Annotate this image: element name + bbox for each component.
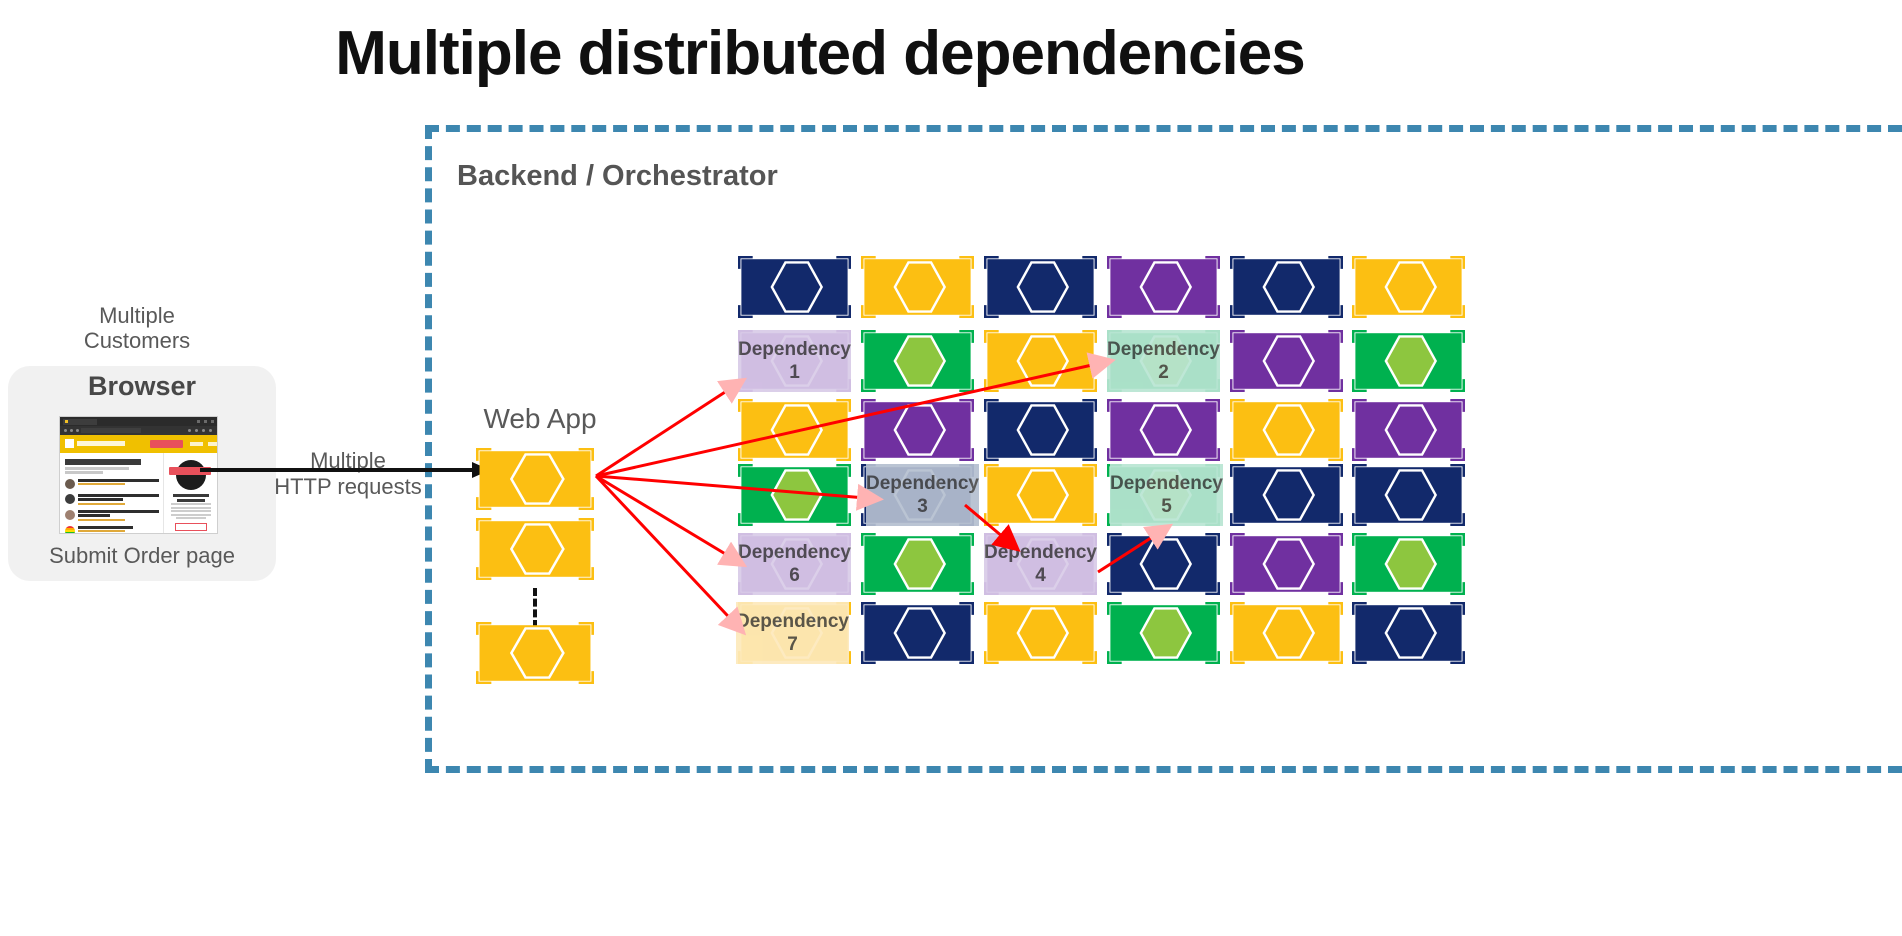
thumbnail-cta-button bbox=[150, 440, 183, 448]
container-icon bbox=[861, 533, 974, 595]
thumbnail-page-body bbox=[60, 453, 217, 534]
thumbnail-sidebar-text bbox=[171, 510, 211, 512]
browser-caption: Submit Order page bbox=[8, 543, 276, 569]
dependency-label-2: Dependency2 bbox=[1107, 330, 1220, 392]
thumbnail-favicon-icon bbox=[65, 420, 68, 423]
container-icon bbox=[984, 464, 1097, 526]
thumbnail-subtext bbox=[65, 471, 103, 474]
container-icon bbox=[1107, 399, 1220, 461]
thumbnail-sidebar-text bbox=[171, 507, 211, 509]
avatar bbox=[65, 494, 75, 504]
dependency-number: 1 bbox=[789, 361, 800, 384]
web-app-label: Web App bbox=[470, 403, 610, 435]
container-icon bbox=[984, 602, 1097, 664]
container-icon bbox=[984, 330, 1097, 392]
thumbnail-nav-item bbox=[190, 442, 203, 446]
dependency-number: 4 bbox=[1035, 564, 1046, 587]
avatar bbox=[65, 479, 75, 489]
container-icon bbox=[1230, 602, 1343, 664]
thumbnail-sidebar-heading bbox=[177, 499, 206, 502]
thumbnail-item-text bbox=[78, 510, 159, 521]
dependency-label-text: Dependency bbox=[738, 541, 851, 564]
thumbnail-item-meta bbox=[78, 519, 125, 521]
thumbnail-maximize-icon bbox=[204, 420, 207, 423]
customers-line-1: Multiple bbox=[99, 303, 175, 328]
dependency-label-text: Dependency bbox=[736, 610, 849, 633]
dependency-number: 3 bbox=[917, 495, 928, 518]
container-icon bbox=[1352, 330, 1465, 392]
thumbnail-item-meta bbox=[78, 530, 125, 532]
thumbnail-menu-icon bbox=[209, 429, 212, 432]
thumbnail-site-wordmark bbox=[77, 441, 125, 446]
thumbnail-list-item bbox=[65, 526, 159, 535]
thumbnail-item-text bbox=[78, 526, 159, 535]
web-app-instance bbox=[476, 448, 594, 510]
customers-line-2: Customers bbox=[84, 328, 190, 353]
thumbnail-address-field bbox=[81, 428, 141, 433]
thumbnail-reload-icon bbox=[76, 429, 79, 432]
dependency-label-text: Dependency bbox=[1107, 338, 1220, 361]
dependency-label-5: Dependency5 bbox=[1110, 464, 1223, 526]
container-icon bbox=[861, 602, 974, 664]
thumbnail-extensions-icon bbox=[195, 429, 198, 432]
thumbnail-sidebar-text bbox=[171, 514, 211, 516]
thumbnail-close-icon bbox=[211, 420, 214, 423]
page-title: Multiple distributed dependencies bbox=[0, 18, 1640, 89]
thumbnail-titlebar bbox=[60, 417, 217, 426]
web-app-instance bbox=[476, 622, 594, 684]
multiple-customers-label: Multiple Customers bbox=[38, 303, 236, 353]
thumbnail-site-header bbox=[60, 435, 217, 453]
dependency-label-text: Dependency bbox=[984, 541, 1097, 564]
thumbnail-profile-icon bbox=[202, 429, 205, 432]
container-icon bbox=[1107, 256, 1220, 318]
container-icon bbox=[984, 256, 1097, 318]
container-icon bbox=[1230, 464, 1343, 526]
dependency-number: 7 bbox=[787, 633, 798, 656]
thumbnail-item-title bbox=[78, 510, 159, 513]
thumbnail-back-icon bbox=[64, 429, 67, 432]
thumbnail-sidebar-button bbox=[175, 523, 207, 531]
container-icon bbox=[738, 399, 851, 461]
container-icon bbox=[1352, 602, 1465, 664]
container-icon bbox=[1230, 533, 1343, 595]
thumbnail-item-title bbox=[78, 526, 133, 529]
container-icon bbox=[738, 256, 851, 318]
dependency-number: 2 bbox=[1158, 361, 1169, 384]
container-icon bbox=[1352, 399, 1465, 461]
thumbnail-minimize-icon bbox=[197, 420, 200, 423]
thumbnail-list-item bbox=[65, 494, 159, 505]
container-icon bbox=[984, 399, 1097, 461]
container-icon bbox=[861, 330, 974, 392]
thumbnail-forward-icon bbox=[70, 429, 73, 432]
dependency-label-6: Dependency6 bbox=[738, 533, 851, 595]
container-icon bbox=[1230, 399, 1343, 461]
container-icon bbox=[1352, 464, 1465, 526]
container-icon bbox=[1107, 602, 1220, 664]
thumbnail-item-title bbox=[78, 494, 159, 497]
thumbnail-sidebar-text bbox=[176, 517, 207, 519]
container-icon bbox=[738, 464, 851, 526]
thumbnail-main-column bbox=[60, 453, 163, 534]
thumbnail-heading bbox=[65, 459, 141, 465]
thumbnail-item-meta bbox=[78, 483, 125, 485]
thumbnail-item-title bbox=[78, 498, 123, 501]
http-request-arrow bbox=[200, 455, 490, 485]
thumbnail-item-title bbox=[78, 479, 159, 482]
thumbnail-list-item bbox=[65, 479, 159, 489]
dependency-label-text: Dependency bbox=[738, 338, 851, 361]
dependency-label-3: Dependency3 bbox=[866, 464, 979, 526]
container-icon bbox=[1107, 533, 1220, 595]
thumbnail-bookmark-icon bbox=[188, 429, 191, 432]
web-app-instance bbox=[476, 518, 594, 580]
container-icon bbox=[1230, 330, 1343, 392]
thumbnail-item-title bbox=[78, 514, 110, 517]
dependency-label-4: Dependency4 bbox=[984, 533, 1097, 595]
thumbnail-urlbar bbox=[60, 426, 217, 435]
thumbnail-item-text bbox=[78, 479, 159, 489]
browser-title: Browser bbox=[8, 371, 276, 402]
container-icon bbox=[861, 399, 974, 461]
container-icon bbox=[1352, 256, 1465, 318]
avatar bbox=[65, 510, 75, 520]
dependency-number: 6 bbox=[789, 564, 800, 587]
container-icon bbox=[1352, 533, 1465, 595]
dependency-label-text: Dependency bbox=[866, 472, 979, 495]
thumbnail-site-logo-icon bbox=[65, 439, 74, 448]
container-icon bbox=[1230, 256, 1343, 318]
thumbnail-item-text bbox=[78, 494, 159, 505]
thumbnail-list-item bbox=[65, 510, 159, 521]
thumbnail-subtext bbox=[65, 467, 129, 470]
container-icon bbox=[861, 256, 974, 318]
thumbnail-sidebar-heading bbox=[173, 494, 208, 497]
thumbnail-sidebar-text bbox=[171, 503, 211, 505]
avatar bbox=[65, 526, 75, 535]
dependency-label-7: Dependency7 bbox=[736, 602, 849, 664]
dependency-label-1: Dependency1 bbox=[738, 330, 851, 392]
dependency-number: 5 bbox=[1161, 495, 1172, 518]
browser-screenshot-thumbnail bbox=[59, 416, 218, 534]
backend-orchestrator-label: Backend / Orchestrator bbox=[457, 160, 778, 193]
thumbnail-item-meta bbox=[78, 503, 125, 505]
dependency-label-text: Dependency bbox=[1110, 472, 1223, 495]
thumbnail-tab bbox=[63, 419, 97, 425]
thumbnail-nav-item bbox=[208, 442, 218, 446]
